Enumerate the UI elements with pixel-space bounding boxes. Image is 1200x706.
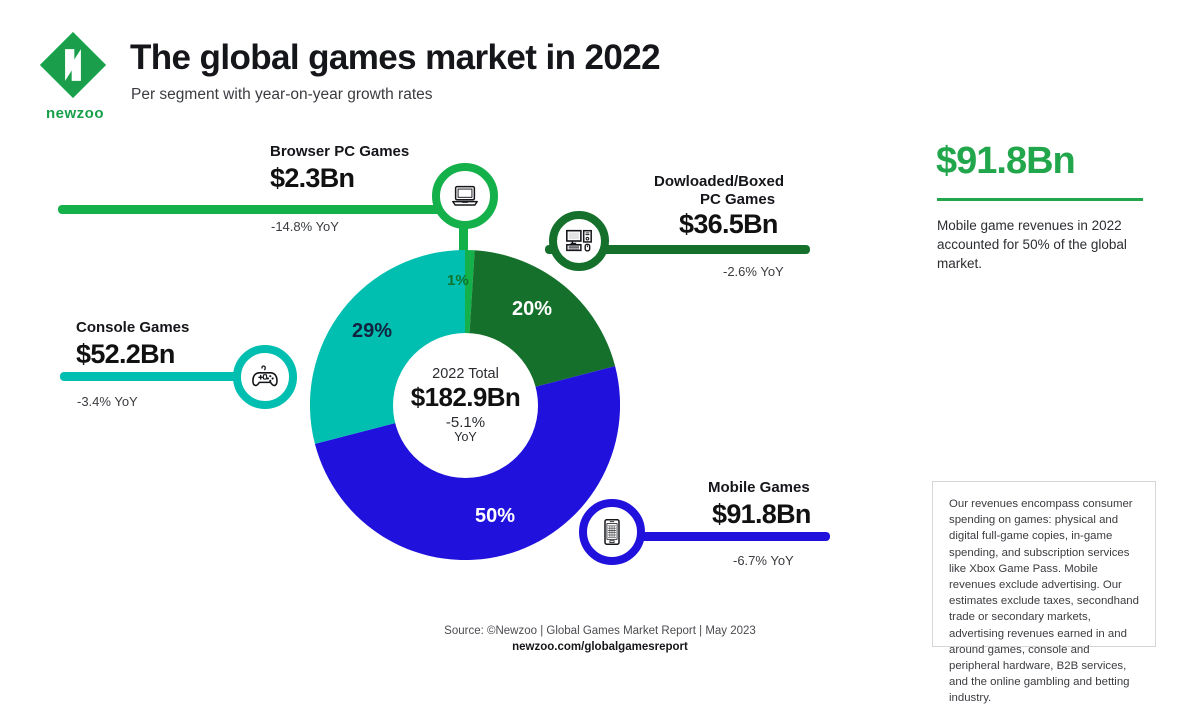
slice-percent-console: 29% [352, 320, 392, 343]
donut-center-total: 2022 Total $182.9Bn -5.1% YoY [393, 333, 538, 478]
callout-value-download: $36.5Bn [679, 209, 778, 240]
highlight-stat-value: $91.8Bn [936, 140, 1075, 183]
callout-title-console: Console Games [76, 319, 189, 336]
callout-yoy-mobile: -6.7% YoY [733, 553, 794, 568]
badge-browser[interactable] [432, 163, 498, 229]
infographic-canvas: newzoo The global games market in 2022 P… [0, 0, 1200, 675]
highlight-stat-description: Mobile game revenues in 2022 accounted f… [937, 216, 1129, 273]
slice-percent-mobile: 50% [475, 505, 515, 528]
laptop-icon [450, 181, 480, 211]
callout-title-browser: Browser PC Games [270, 143, 409, 160]
total-yoy: -5.1% [446, 415, 485, 431]
callout-title-download-line1: Dowloaded/Boxed [654, 173, 784, 190]
total-yoy-unit: YoY [454, 431, 476, 445]
total-label: 2022 Total [432, 366, 499, 382]
badge-mobile[interactable] [579, 499, 645, 565]
connector-line-browser [58, 205, 463, 214]
methodology-note-box: Our revenues encompass consumer spending… [932, 481, 1156, 647]
desktop-pc-icon [564, 226, 594, 256]
highlight-divider [937, 198, 1143, 201]
callout-title-mobile: Mobile Games [708, 479, 810, 496]
total-value: $182.9Bn [411, 383, 520, 412]
badge-download[interactable] [549, 211, 609, 271]
newzoo-logo: newzoo [40, 32, 116, 120]
page-subtitle: Per segment with year-on-year growth rat… [131, 86, 433, 104]
slice-percent-download: 20% [512, 298, 552, 321]
callout-value-mobile: $91.8Bn [712, 499, 811, 530]
slice-percent-browser: 1% [447, 272, 469, 289]
source-url[interactable]: newzoo.com/globalgamesreport [0, 641, 1200, 653]
gamepad-icon [249, 361, 281, 393]
newzoo-wordmark: newzoo [40, 105, 110, 122]
source-line: Source: ©Newzoo | Global Games Market Re… [0, 625, 1200, 637]
newzoo-diamond-logo-icon [40, 32, 106, 98]
callout-yoy-download: -2.6% YoY [723, 264, 784, 279]
callout-value-browser: $2.3Bn [270, 163, 354, 194]
badge-console[interactable] [233, 345, 297, 409]
page-title: The global games market in 2022 [130, 38, 660, 78]
callout-yoy-browser: -14.8% YoY [271, 219, 339, 234]
callout-yoy-console: -3.4% YoY [77, 394, 138, 409]
smartphone-icon [598, 518, 626, 546]
callout-value-console: $52.2Bn [76, 339, 175, 370]
callout-title-download-line2: PC Games [700, 191, 775, 208]
